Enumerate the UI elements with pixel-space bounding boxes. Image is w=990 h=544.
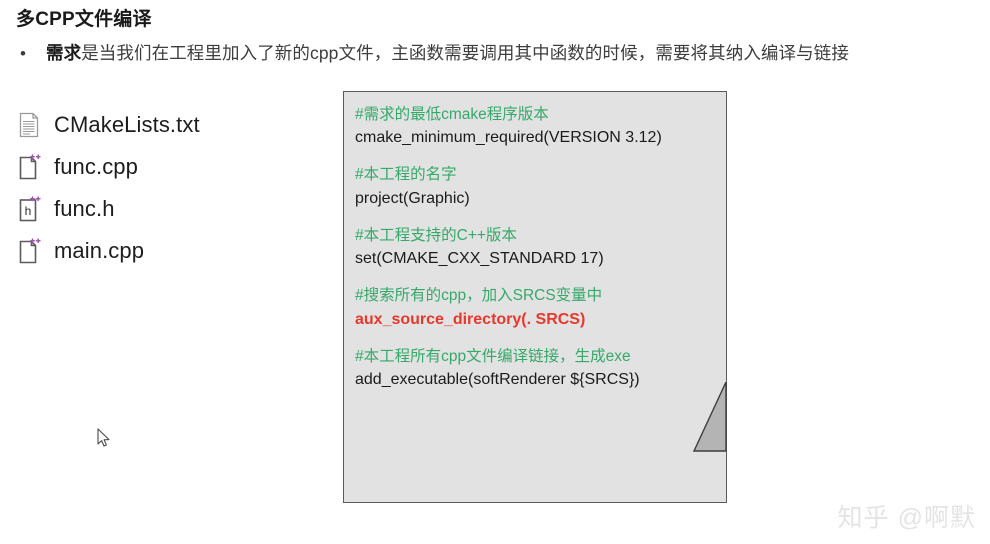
file-name: CMakeLists.txt — [54, 114, 200, 136]
list-item[interactable]: h func.h — [14, 192, 200, 226]
list-item[interactable]: CMakeLists.txt — [14, 108, 200, 142]
code-content: #需求的最低cmake程序版本 cmake_minimum_required(V… — [355, 104, 718, 406]
code-comment: #搜索所有的cpp，加入SRCS变量中 — [355, 285, 718, 307]
code-block: #本工程的名字 project(Graphic) — [355, 164, 718, 210]
file-name: main.cpp — [54, 240, 144, 262]
code-block: #本工程所有cpp文件编译链接，生成exe add_executable(sof… — [355, 346, 718, 392]
mouse-cursor-icon — [97, 428, 111, 448]
cpp-header-file-icon: h — [14, 194, 44, 224]
code-statement: cmake_minimum_required(VERSION 3.12) — [355, 126, 718, 150]
file-list: CMakeLists.txt func.cpp h — [14, 108, 200, 268]
code-block: #本工程支持的C++版本 set(CMAKE_CXX_STANDARD 17) — [355, 225, 718, 271]
watermark: 知乎 @啊默 — [838, 498, 976, 534]
file-name: func.cpp — [54, 156, 138, 178]
code-statement: add_executable(softRenderer ${SRCS}) — [355, 368, 718, 392]
code-comment: #本工程所有cpp文件编译链接，生成exe — [355, 346, 718, 368]
code-comment: #本工程的名字 — [355, 164, 718, 186]
list-item[interactable]: func.cpp — [14, 150, 200, 184]
svg-text:h: h — [25, 204, 32, 218]
list-item[interactable]: main.cpp — [14, 234, 200, 268]
bullet-point-row: • 需求 是当我们在工程里加入了新的cpp文件，主函数需要调用其中函数的时候，需… — [16, 40, 849, 65]
page-title: 多CPP文件编译 — [16, 4, 152, 31]
code-statement-highlighted: aux_source_directory(. SRCS) — [355, 308, 718, 332]
bullet-keyword: 需求 — [46, 40, 81, 65]
bullet-body-text: 是当我们在工程里加入了新的cpp文件，主函数需要调用其中函数的时候，需要将其纳入… — [81, 40, 849, 65]
code-block: #搜索所有的cpp，加入SRCS变量中 aux_source_directory… — [355, 285, 718, 331]
cpp-source-file-icon — [14, 152, 44, 182]
code-block: #需求的最低cmake程序版本 cmake_minimum_required(V… — [355, 104, 718, 150]
code-comment: #本工程支持的C++版本 — [355, 225, 718, 247]
cmakelists-code-card: #需求的最低cmake程序版本 cmake_minimum_required(V… — [343, 91, 727, 503]
code-statement: project(Graphic) — [355, 187, 718, 211]
text-document-icon — [14, 110, 44, 140]
file-name: func.h — [54, 198, 115, 220]
code-statement: set(CMAKE_CXX_STANDARD 17) — [355, 247, 718, 271]
bullet-marker-icon: • — [16, 45, 46, 62]
cpp-source-file-icon — [14, 236, 44, 266]
code-comment: #需求的最低cmake程序版本 — [355, 104, 718, 126]
